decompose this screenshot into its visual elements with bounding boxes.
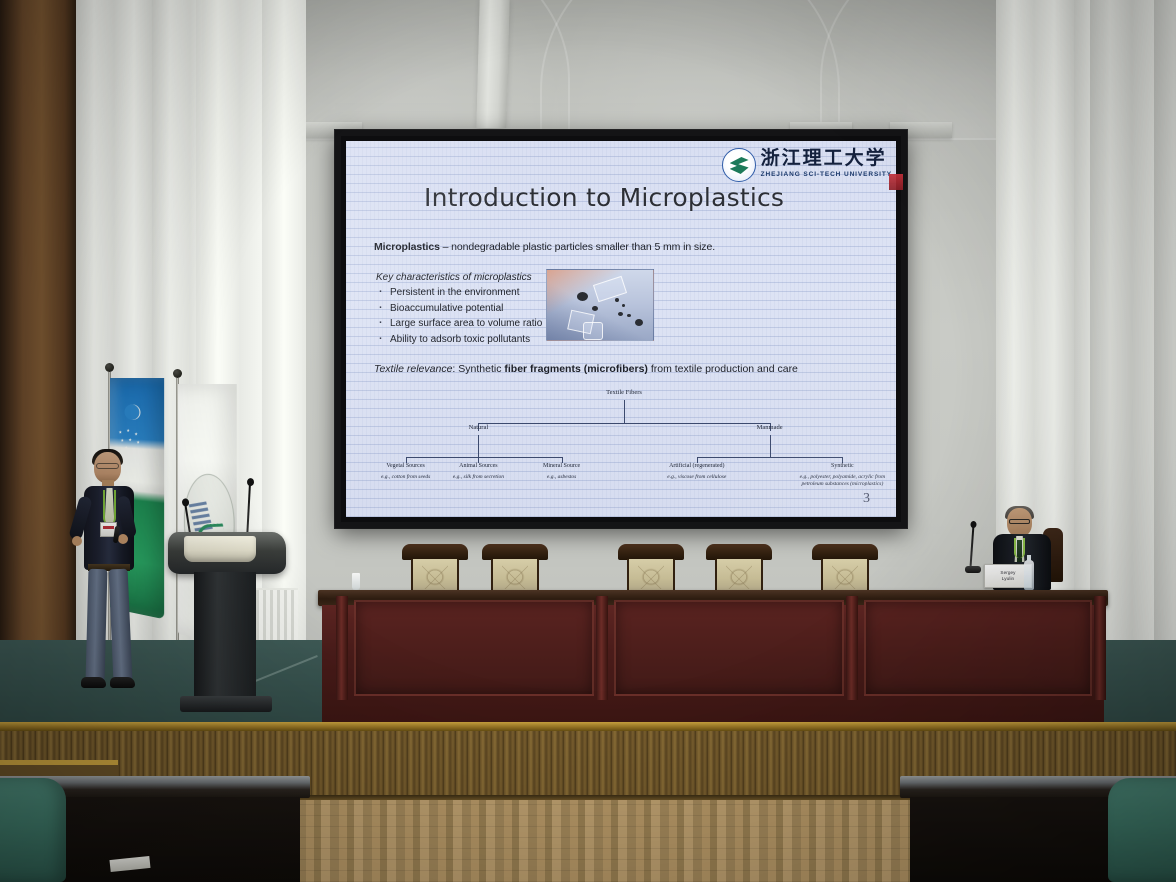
presenter-leg <box>109 569 133 682</box>
textile-relevance-post: from textile production and care <box>648 363 798 375</box>
zstu-seal-icon <box>722 148 756 182</box>
chairperson-lanyard <box>1014 538 1025 558</box>
list-item: Large surface area to volume ratio <box>376 318 542 329</box>
tree-leaf-example: e.g., polyester, polyamide, acrylic from… <box>799 474 885 488</box>
presenter-shoe <box>81 677 106 688</box>
tree-leaf-example: e.g., silk from secretion <box>433 474 523 481</box>
ceiling-rib <box>476 0 509 128</box>
microplastics-photo <box>546 269 654 341</box>
table-panel-inset <box>354 600 594 696</box>
list-item: Bioaccumulative potential <box>376 303 542 314</box>
tree-leaf-label: Mineral Source <box>543 463 580 469</box>
presenter-lanyard <box>103 490 116 524</box>
conference-hall-scene: 浙江理工大学 ZHEJIANG SCI-TECH UNIVERSITY Intr… <box>0 0 1176 882</box>
table-pilaster <box>1094 596 1106 700</box>
panel-chair <box>482 544 548 596</box>
definition-term: Microplastics <box>374 241 440 253</box>
glasses-icon <box>1009 519 1030 524</box>
table-panel-inset <box>614 600 844 696</box>
list-item: Persistent in the environment <box>376 287 542 298</box>
emblem-bars <box>189 501 213 532</box>
water-bottle <box>1024 560 1034 590</box>
table-panel-inset <box>864 600 1092 696</box>
textile-relevance-line: Textile relevance: Synthetic fiber fragm… <box>374 363 880 375</box>
definition-rest: – nondegradable plastic particles smalle… <box>440 241 715 253</box>
tree-branch-label: Manmade <box>757 424 783 431</box>
presentation-slide: 浙江理工大学 ZHEJIANG SCI-TECH UNIVERSITY Intr… <box>346 141 896 517</box>
table-microphone-base <box>965 566 981 573</box>
tree-leaf: Mineral Source e.g., asbestos <box>517 463 607 481</box>
characteristics-list: Persistent in the environment Bioaccumul… <box>376 287 542 349</box>
panel-chair <box>402 544 468 596</box>
tree-leaf-example: e.g., asbestos <box>517 474 607 481</box>
list-item: Ability to adsorb toxic pollutants <box>376 334 542 345</box>
presenter-leg <box>86 569 108 681</box>
slide-title: Introduction to Microplastics <box>424 183 784 212</box>
tree-leaf-example: e.g., viscose from cellulose <box>652 474 742 481</box>
presenter-legs <box>87 569 132 687</box>
tree-leaf-label: Synthetic <box>831 463 854 469</box>
textile-fiber-tree-diagram: Textile Fibers Natural Manmade Vegetal S… <box>364 389 884 504</box>
projection-screen: 浙江理工大学 ZHEJIANG SCI-TECH UNIVERSITY Intr… <box>335 130 907 528</box>
panel-chair <box>812 544 878 596</box>
table-pilaster <box>596 596 608 700</box>
nameplate-line-2: Lyulin <box>1002 576 1014 582</box>
slide-definition: Microplastics – nondegradable plastic pa… <box>374 241 878 253</box>
tree-leaf-label: Animal Sources <box>459 463 498 469</box>
table-pilaster <box>336 596 348 700</box>
presenter-hand-right <box>118 534 128 544</box>
podium-top <box>168 532 286 574</box>
tree-branch-label: Natural <box>469 424 489 431</box>
textile-relevance-pre: : Synthetic <box>452 363 504 375</box>
tree-leaf-label: Vegetal Sources <box>386 463 425 469</box>
textile-relevance-bold: fiber fragments (microfibers) <box>504 363 648 375</box>
logo-english-name: ZHEJIANG SCI-TECH UNIVERSITY <box>761 171 892 178</box>
screen-edge-indicator <box>889 174 903 190</box>
podium-column <box>194 572 256 700</box>
key-characteristics-heading: Key characteristics of microplastics <box>376 272 532 283</box>
panel-table <box>318 590 1108 728</box>
panel-chair <box>618 544 684 596</box>
tree-root-label: Textile Fibers <box>606 389 642 396</box>
presenter-shoe <box>110 677 135 688</box>
presenter-hand-left <box>72 536 82 546</box>
ceiling-arch <box>270 0 570 140</box>
tree-leaf-label: Artificial (regenerated) <box>669 463 724 469</box>
foreground-chair-right <box>1108 778 1176 882</box>
university-logo: 浙江理工大学 ZHEJIANG SCI-TECH UNIVERSITY <box>722 148 892 182</box>
logo-chinese-name: 浙江理工大学 <box>761 149 892 168</box>
panel-chair <box>706 544 772 596</box>
tree-leaf: Artificial (regenerated) e.g., viscose f… <box>652 463 742 481</box>
podium-tray <box>184 536 256 562</box>
standing-presenter <box>62 452 160 710</box>
podium-base <box>180 696 272 712</box>
stars-group <box>117 428 157 453</box>
foreground-chair-left <box>0 778 66 882</box>
tree-leaf: Synthetic e.g., polyester, polyamide, ac… <box>799 463 885 488</box>
tree-leaf: Animal Sources e.g., silk from secretion <box>433 463 523 481</box>
glasses-icon <box>96 463 119 469</box>
water-glass <box>352 573 360 590</box>
textile-relevance-lead: Textile relevance <box>374 363 452 375</box>
table-pilaster <box>846 596 858 700</box>
slide-number: 3 <box>863 491 870 507</box>
speaker-podium <box>168 532 286 722</box>
crescent-icon <box>121 404 136 420</box>
